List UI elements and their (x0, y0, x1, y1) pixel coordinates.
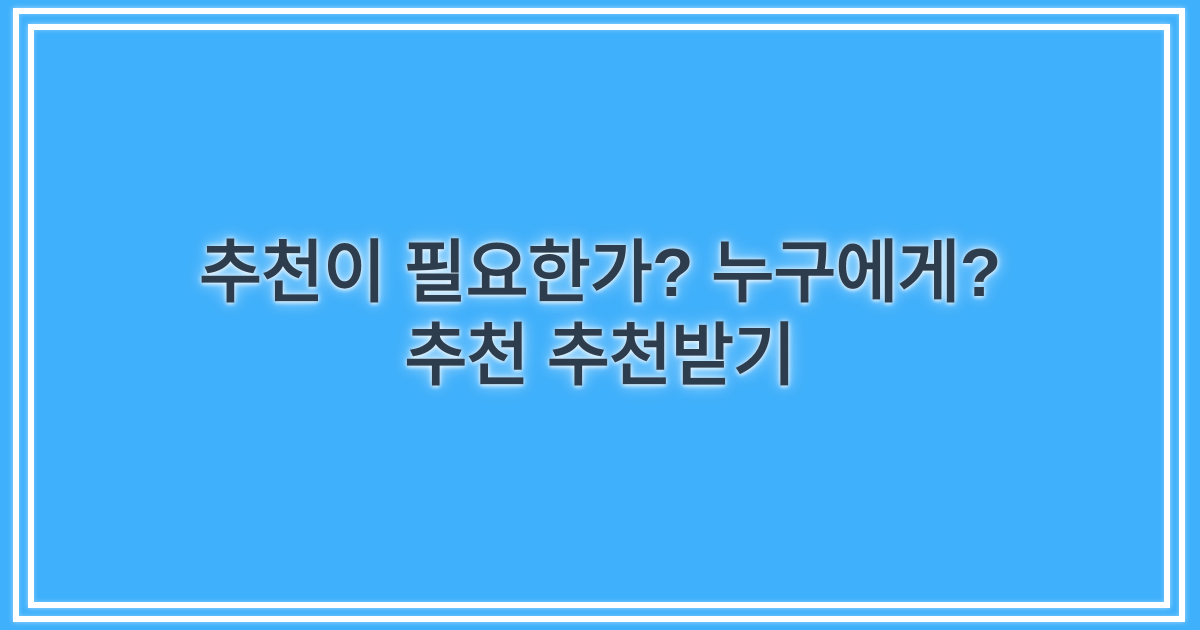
thumbnail-canvas: 추천이 필요한가? 누구에게? 추천 추천받기 (0, 0, 1200, 630)
headline-text: 추천이 필요한가? 누구에게? 추천 추천받기 (150, 232, 1050, 398)
headline-container: 추천이 필요한가? 누구에게? 추천 추천받기 (0, 0, 1200, 630)
